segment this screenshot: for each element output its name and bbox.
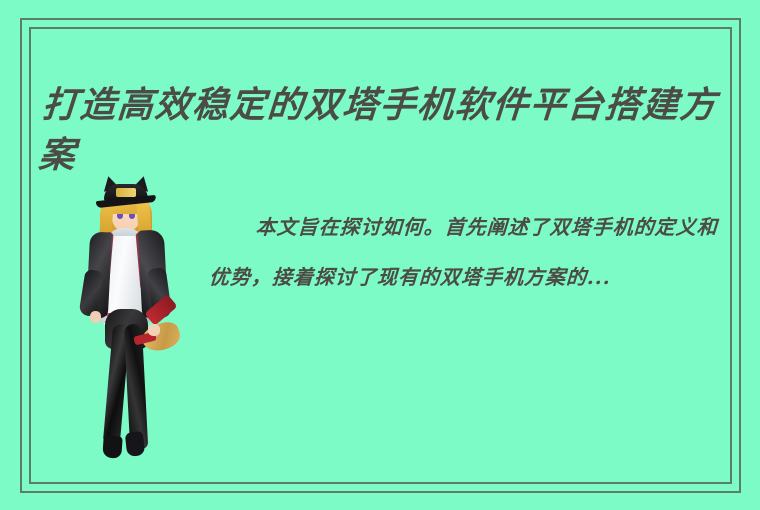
hand-left — [90, 311, 101, 323]
content-row: 本文旨在探讨如何。首先阐述了双塔手机的定义和优势，接着探讨了现有的双塔手机方案的… — [44, 170, 734, 480]
cap-emblem-icon — [116, 188, 136, 197]
article-card: 打造高效稳定的双塔手机软件平台搭建方案 — [0, 0, 760, 510]
hand-right — [148, 324, 160, 336]
article-excerpt: 本文旨在探讨如何。首先阐述了双塔手机的定义和优势，接着探讨了现有的双塔手机方案的… — [208, 202, 734, 302]
boot-left — [102, 435, 122, 458]
boot-right — [125, 431, 145, 457]
character-illustration — [72, 174, 182, 474]
page-title: 打造高效稳定的双塔手机软件平台搭建方案 — [37, 80, 730, 180]
